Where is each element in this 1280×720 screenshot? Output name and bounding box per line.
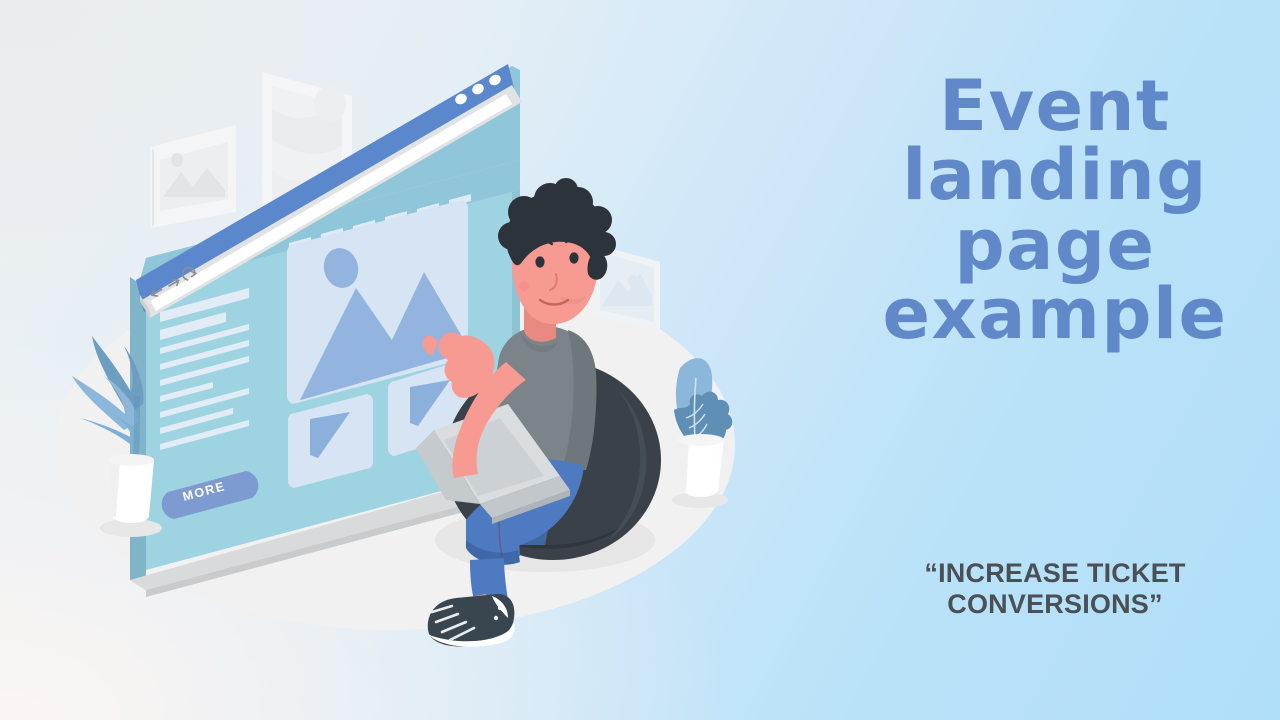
wall-frame-small-left: [150, 125, 236, 228]
page-title: Event landing page example: [830, 72, 1280, 349]
illustration-artwork: MORE: [0, 0, 840, 720]
landing-page-hero-canvas: MORE: [0, 0, 1280, 720]
text-panel: Event landing page example “INCREASE TIC…: [830, 0, 1280, 720]
page-subtitle: “INCREASE TICKET CONVERSIONS”: [830, 558, 1280, 621]
